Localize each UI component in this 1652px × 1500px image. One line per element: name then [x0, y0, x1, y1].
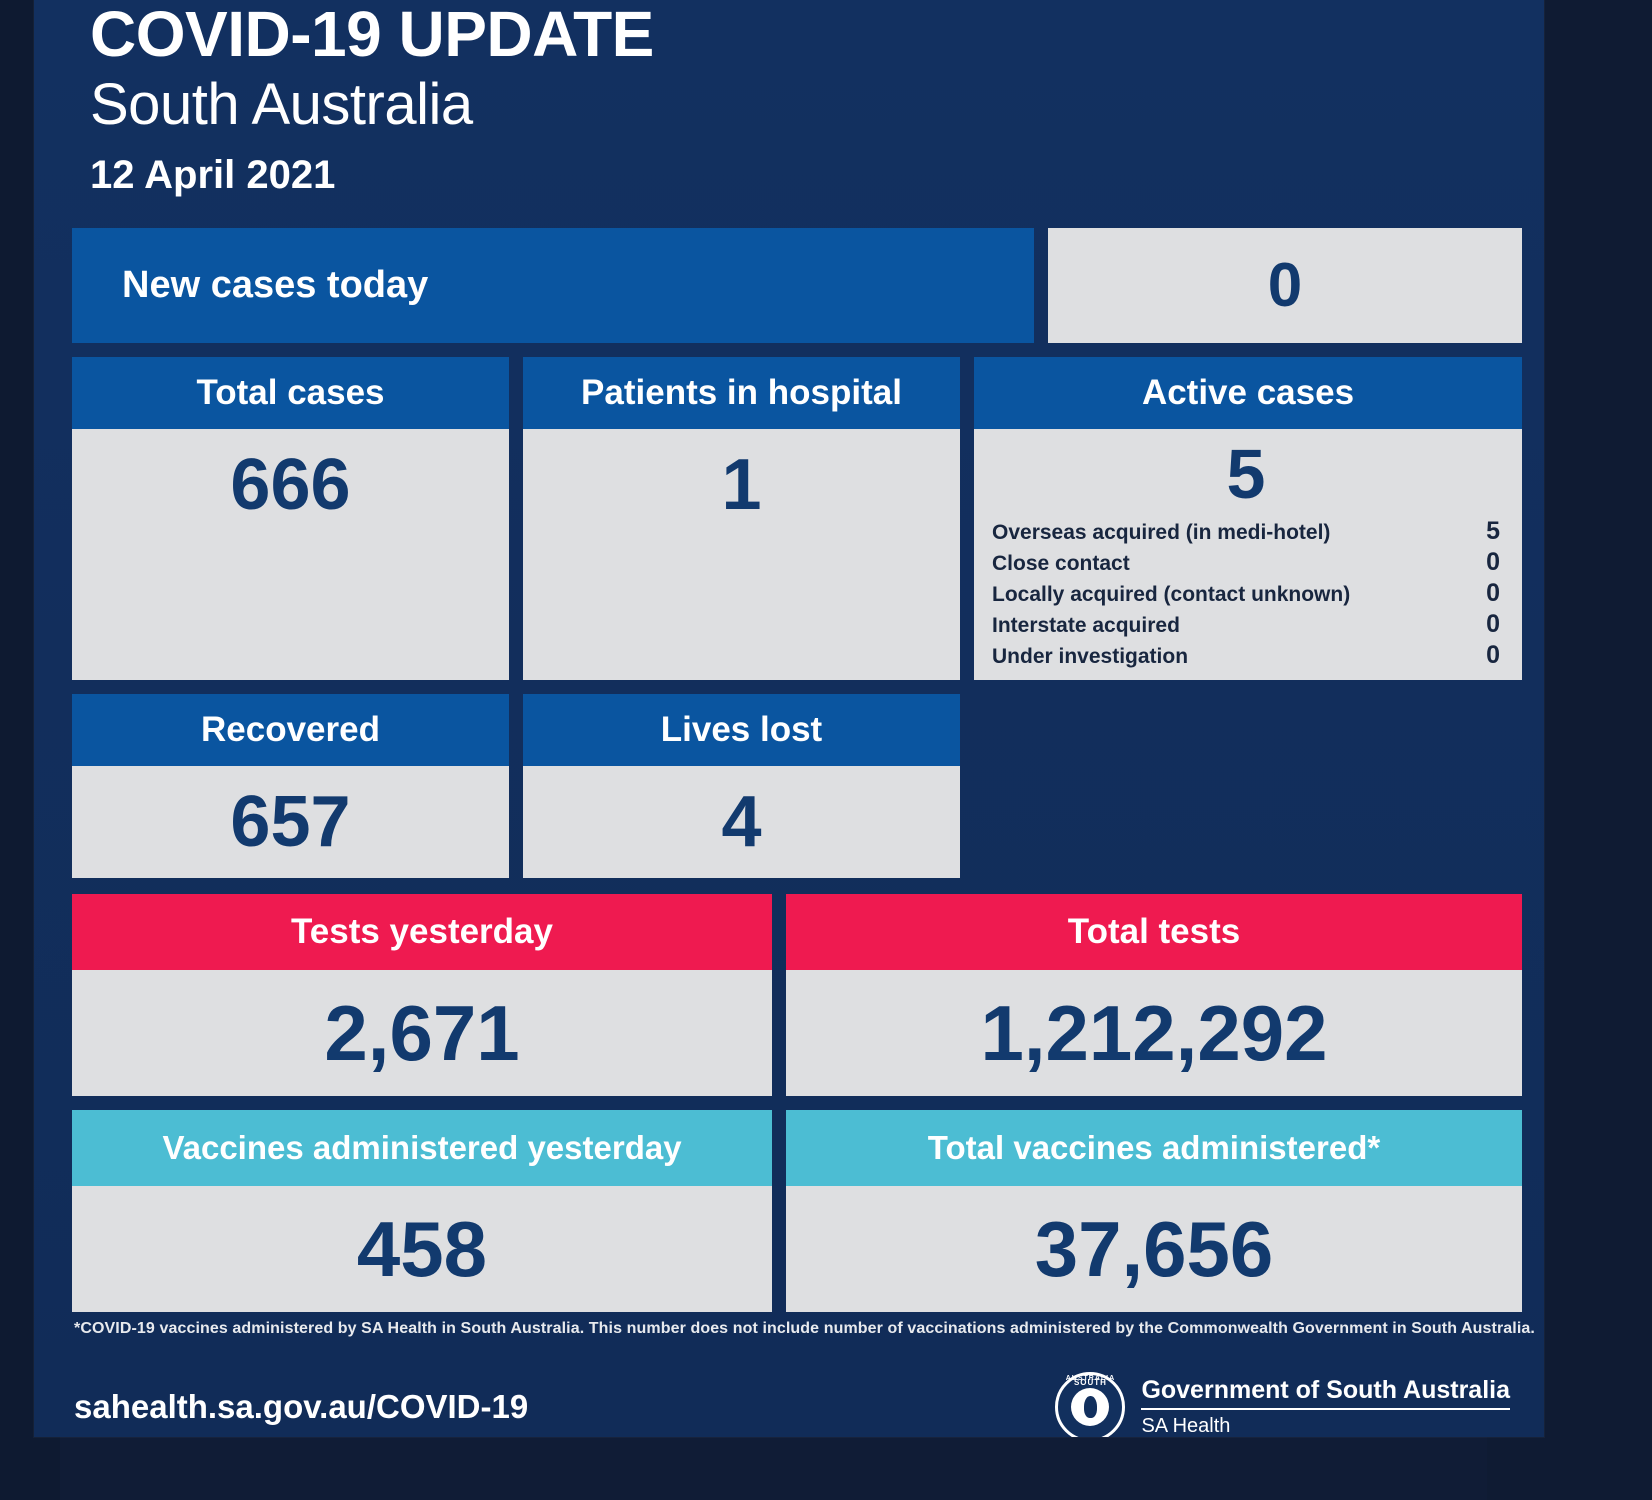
breakdown-row: Under investigation 0: [992, 641, 1500, 670]
stat-value-total-cases: 666: [72, 429, 509, 541]
stat-card-patients-in-hospital: Patients in hospital 1: [523, 357, 960, 680]
vaccines-row: Vaccines administered yesterday 458 Tota…: [72, 1110, 1522, 1312]
breakdown-value: 5: [1486, 517, 1500, 546]
test-value-total-tests: 1,212,292: [786, 970, 1522, 1096]
stat-label-patients-in-hospital: Patients in hospital: [523, 357, 960, 429]
stat-card-recovered: Recovered 657: [72, 694, 509, 878]
test-label-total-tests: Total tests: [786, 894, 1522, 970]
vaccine-label-total-administered: Total vaccines administered*: [786, 1110, 1522, 1186]
brand-text: Government of South Australia SA Health: [1141, 1375, 1510, 1438]
breakdown-label: Locally acquired (contact unknown): [992, 583, 1350, 607]
breakdown-label: Interstate acquired: [992, 614, 1180, 638]
brand-agency: SA Health: [1141, 1410, 1510, 1438]
stats-grid: New cases today 0 Total cases 666 Patien…: [34, 204, 1544, 1312]
stat-value-recovered: 657: [72, 766, 509, 878]
stats-row-bottom: Recovered 657 Lives lost 4: [72, 694, 1522, 878]
page-title: COVID-19 UPDATE: [90, 0, 1544, 70]
report-date: 12 April 2021: [90, 140, 1544, 204]
test-label-tests-yesterday: Tests yesterday: [72, 894, 772, 970]
vaccine-value-administered-yesterday: 458: [72, 1186, 772, 1312]
active-cases-label: Active cases: [974, 357, 1522, 429]
breakdown-row: Interstate acquired 0: [992, 610, 1500, 639]
stat-card-lives-lost: Lives lost 4: [523, 694, 960, 878]
new-cases-label: New cases today: [72, 228, 1034, 343]
test-card-tests-yesterday: Tests yesterday 2,671: [72, 894, 772, 1096]
footer-url[interactable]: sahealth.sa.gov.au/COVID-19: [74, 1388, 528, 1426]
spacer: [974, 694, 1522, 878]
stat-label-lives-lost: Lives lost: [523, 694, 960, 766]
stat-label-total-cases: Total cases: [72, 357, 509, 429]
test-value-tests-yesterday: 2,671: [72, 970, 772, 1096]
poster-header: COVID-19 UPDATE South Australia 12 April…: [34, 0, 1544, 204]
vaccine-label-administered-yesterday: Vaccines administered yesterday: [72, 1110, 772, 1186]
stat-card-total-cases: Total cases 666: [72, 357, 509, 680]
breakdown-row: Close contact 0: [992, 548, 1500, 577]
breakdown-label: Under investigation: [992, 645, 1188, 669]
breakdown-value: 0: [1486, 579, 1500, 608]
active-cases-breakdown: Overseas acquired (in medi-hotel) 5 Clos…: [992, 517, 1500, 670]
vaccine-value-total-administered: 37,656: [786, 1186, 1522, 1312]
breakdown-row: Overseas acquired (in medi-hotel) 5: [992, 517, 1500, 546]
active-cases-card: Active cases 5 Overseas acquired (in med…: [974, 357, 1522, 680]
page-subtitle: South Australia: [90, 70, 1544, 140]
vaccine-card-administered-yesterday: Vaccines administered yesterday 458: [72, 1110, 772, 1312]
active-cases-value: 5: [992, 435, 1500, 513]
stats-row-top: Total cases 666 Patients in hospital 1 A…: [72, 357, 1522, 680]
stat-label-recovered: Recovered: [72, 694, 509, 766]
footer-brand: SOUTH AUSTRALIA Government of South Aust…: [1055, 1372, 1510, 1437]
south-australia-crest-icon: SOUTH AUSTRALIA: [1055, 1372, 1125, 1437]
breakdown-label: Overseas acquired (in medi-hotel): [992, 521, 1330, 545]
vaccine-card-total-administered: Total vaccines administered* 37,656: [786, 1110, 1522, 1312]
brand-government: Government of South Australia: [1141, 1375, 1510, 1410]
test-card-total-tests: Total tests 1,212,292: [786, 894, 1522, 1096]
breakdown-label: Close contact: [992, 552, 1130, 576]
breakdown-value: 0: [1486, 548, 1500, 577]
new-cases-value: 0: [1048, 228, 1522, 343]
breakdown-value: 0: [1486, 641, 1500, 670]
poster-footer: sahealth.sa.gov.au/COVID-19 SOUTH AUSTRA…: [34, 1338, 1544, 1437]
stat-value-patients-in-hospital: 1: [523, 429, 960, 541]
breakdown-row: Locally acquired (contact unknown) 0: [992, 579, 1500, 608]
tests-row: Tests yesterday 2,671 Total tests 1,212,…: [72, 894, 1522, 1096]
footnote-text: *COVID-19 vaccines administered by SA He…: [34, 1312, 1544, 1338]
covid-update-poster: COVID-19 UPDATE South Australia 12 April…: [34, 0, 1544, 1437]
active-cases-body: 5 Overseas acquired (in medi-hotel) 5 Cl…: [974, 429, 1522, 680]
new-cases-row: New cases today 0: [72, 228, 1522, 343]
stat-value-lives-lost: 4: [523, 766, 960, 878]
breakdown-value: 0: [1486, 610, 1500, 639]
crest-bottom-text: AUSTRALIA: [1058, 1375, 1122, 1436]
